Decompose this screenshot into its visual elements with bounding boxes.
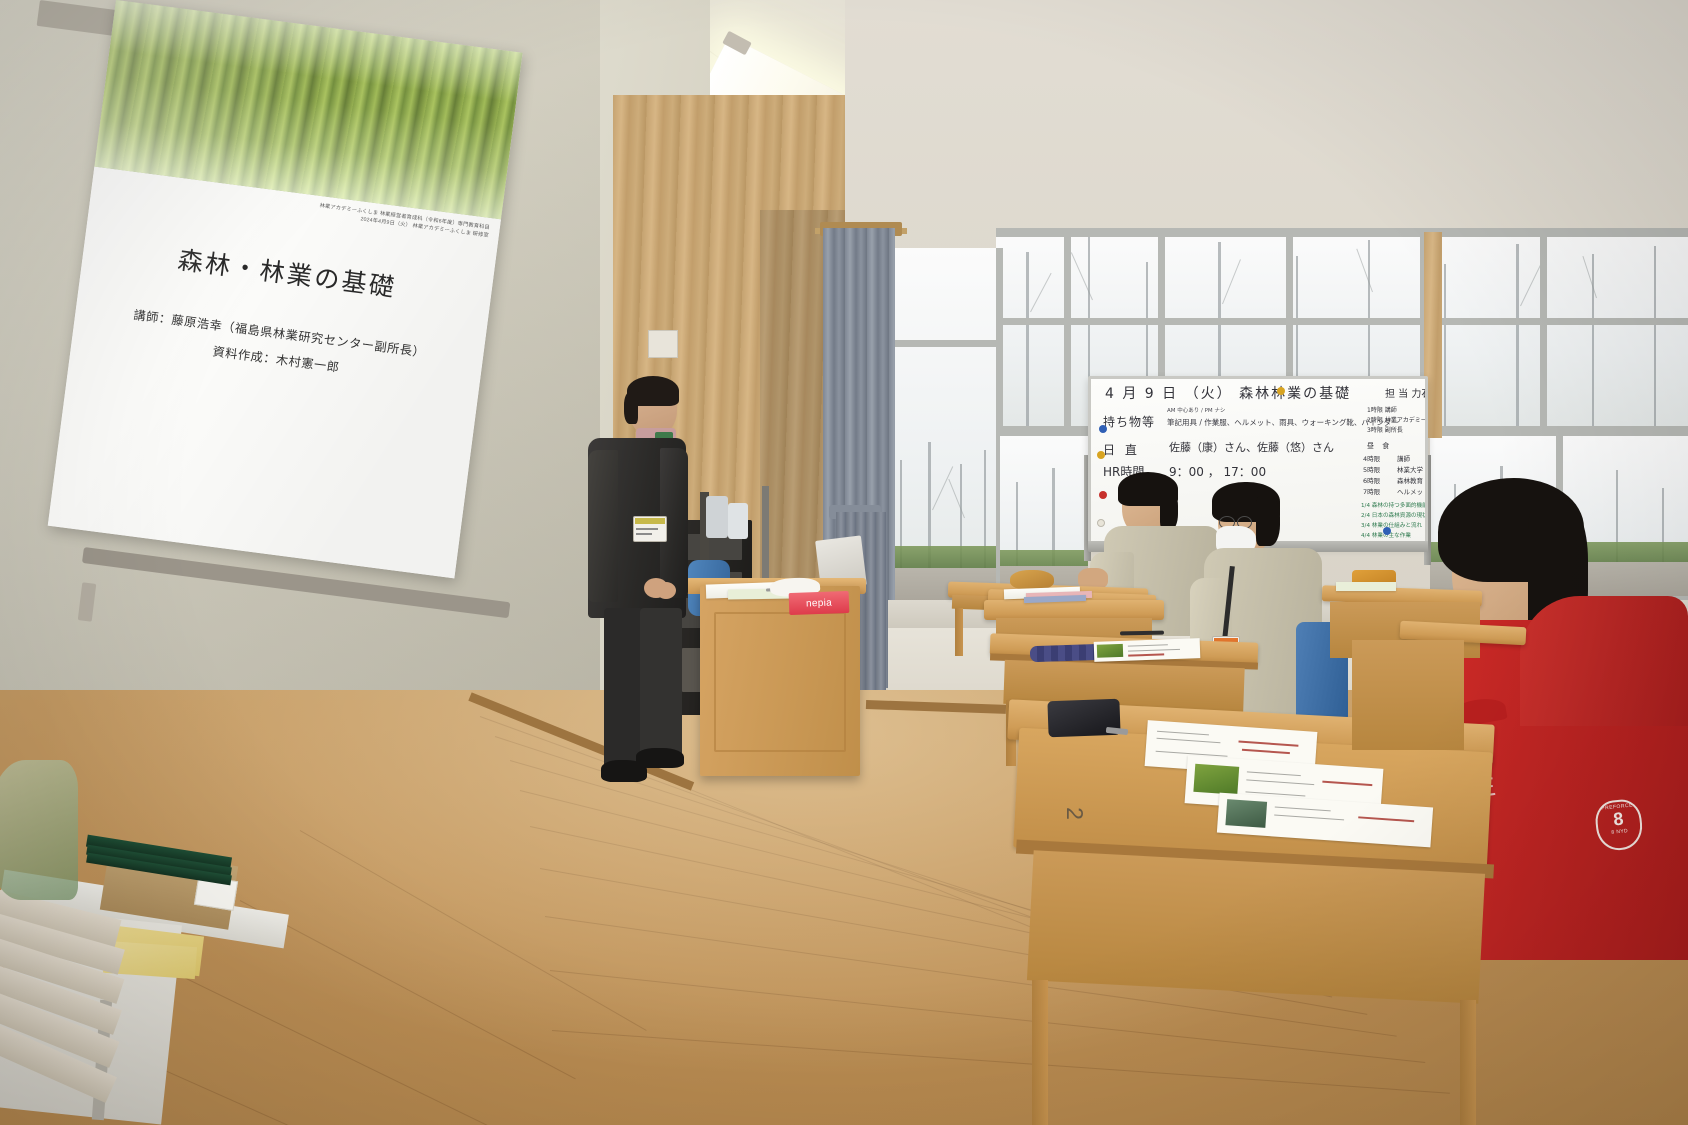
screen-pull-cord: [78, 582, 97, 621]
cup-stack: [728, 503, 748, 539]
whiteboard-items-label: 持ち物等: [1103, 413, 1155, 430]
whiteboard-schedule-row: 5時限: [1363, 464, 1380, 474]
projection-screen: 林業アカデミーふくしま 林業経営者育成科（令和6年度）専門教育科目 2024年4…: [48, 0, 523, 578]
whiteboard-schedule-row: 7時限: [1363, 486, 1380, 496]
whiteboard-right-2: 2時限 林業アカデミー: [1367, 415, 1427, 424]
hood: [1520, 596, 1688, 726]
whiteboard-schedule-heading: 昼 食: [1367, 441, 1392, 451]
desk-apron: [1352, 640, 1464, 750]
podium-front-panel: [714, 612, 846, 752]
whiteboard-note: 1/4 森林の持つ多面的機能: [1361, 501, 1428, 509]
presenter-name-badge: [633, 516, 667, 542]
presenter-leg: [640, 608, 682, 760]
desk-leg: [1460, 1000, 1476, 1125]
magnet-white[interactable]: [1097, 519, 1105, 527]
wall-notice-card: [648, 330, 678, 358]
classroom-photo: 林業アカデミーふくしま 林業経営者育成科（令和6年度）専門教育科目 2024年4…: [0, 0, 1688, 1125]
presenter-leg: [604, 608, 644, 766]
whiteboard-schedule-row: 4時限: [1363, 453, 1380, 463]
projection-screen-assembly: 林業アカデミーふくしま 林業経営者育成科（令和6年度）専門教育科目 2024年4…: [40, 0, 540, 640]
presenter-shoe: [636, 748, 684, 768]
whiteboard-right-3: 3時限 副所長: [1367, 425, 1403, 434]
whiteboard-schedule-content: 森林教育: [1397, 475, 1423, 485]
desk-number: 2: [1061, 807, 1088, 820]
pen[interactable]: [1120, 631, 1164, 636]
presenter-sleeve: [588, 450, 618, 602]
water-pitcher: [706, 496, 728, 538]
desk-top: [984, 600, 1164, 620]
student-1-hair-back: [1160, 490, 1178, 530]
whiteboard-duty-label: 日 直: [1103, 441, 1140, 458]
magnet-blue[interactable]: [1383, 527, 1391, 535]
whiteboard-note: 2/4 日本の森林資源の現状: [1361, 511, 1428, 519]
wrapped-plant: [0, 760, 78, 900]
desk-paper[interactable]: [1336, 582, 1396, 591]
desk-leg: [955, 608, 963, 656]
window-head: [996, 228, 1688, 237]
window-mullion: [1064, 232, 1071, 432]
whiteboard-charge: 担 当 力石: [1385, 385, 1428, 400]
whiteboard-schedule-content: 林業大学: [1397, 464, 1423, 474]
whiteboard-hr-value: 9：00 ， 17：00: [1169, 463, 1266, 480]
student-2-hair-back: [1256, 496, 1280, 546]
slide-body: 林業アカデミーふくしま 林業経営者育成科（令和6年度）専門教育科目 2024年4…: [48, 167, 501, 579]
desk-leg: [1032, 980, 1048, 1125]
whiteboard-duty-value: 佐藤（康）さん、佐藤（悠）さん: [1169, 439, 1334, 455]
magnet-yellow[interactable]: [1277, 387, 1285, 395]
presenter-hair-side: [624, 392, 638, 424]
whiteboard-schedule-row: 6時限: [1363, 475, 1380, 485]
window-mullion: [886, 340, 1002, 347]
whiteboard-schedule-content: 講師: [1397, 453, 1410, 463]
slide-title: 森林・林業の基礎: [82, 228, 493, 317]
whiteboard-date-line: 4 月 9 日 （火） 森林林業の基礎: [1105, 383, 1351, 403]
presenter-hand: [656, 582, 676, 599]
window-mullion: [1540, 232, 1547, 432]
whiteboard-items-value: 筆記用具 / 作業服、ヘルメット、雨具、ウォーキング靴、バインダー: [1167, 417, 1399, 428]
tissue-box[interactable]: nepia: [789, 591, 850, 615]
whiteboard-items-note: AM 中心あり / PM ナシ: [1167, 406, 1225, 414]
desk-apron-front: [1027, 850, 1485, 1003]
whiteboard-note: 3/4 林業の仕組みと流れ: [1361, 521, 1422, 529]
whiteboard-schedule-content: ヘルメット: [1397, 486, 1428, 496]
magnet-blue[interactable]: [1099, 425, 1107, 433]
whiteboard-right-1: 1時限 講師: [1367, 405, 1397, 414]
window-mullion: [996, 318, 1688, 325]
magnet-yellow[interactable]: [1097, 451, 1105, 459]
handout[interactable]: [1094, 638, 1201, 662]
magnet-red[interactable]: [1099, 491, 1107, 499]
window-tall: [888, 248, 1000, 610]
